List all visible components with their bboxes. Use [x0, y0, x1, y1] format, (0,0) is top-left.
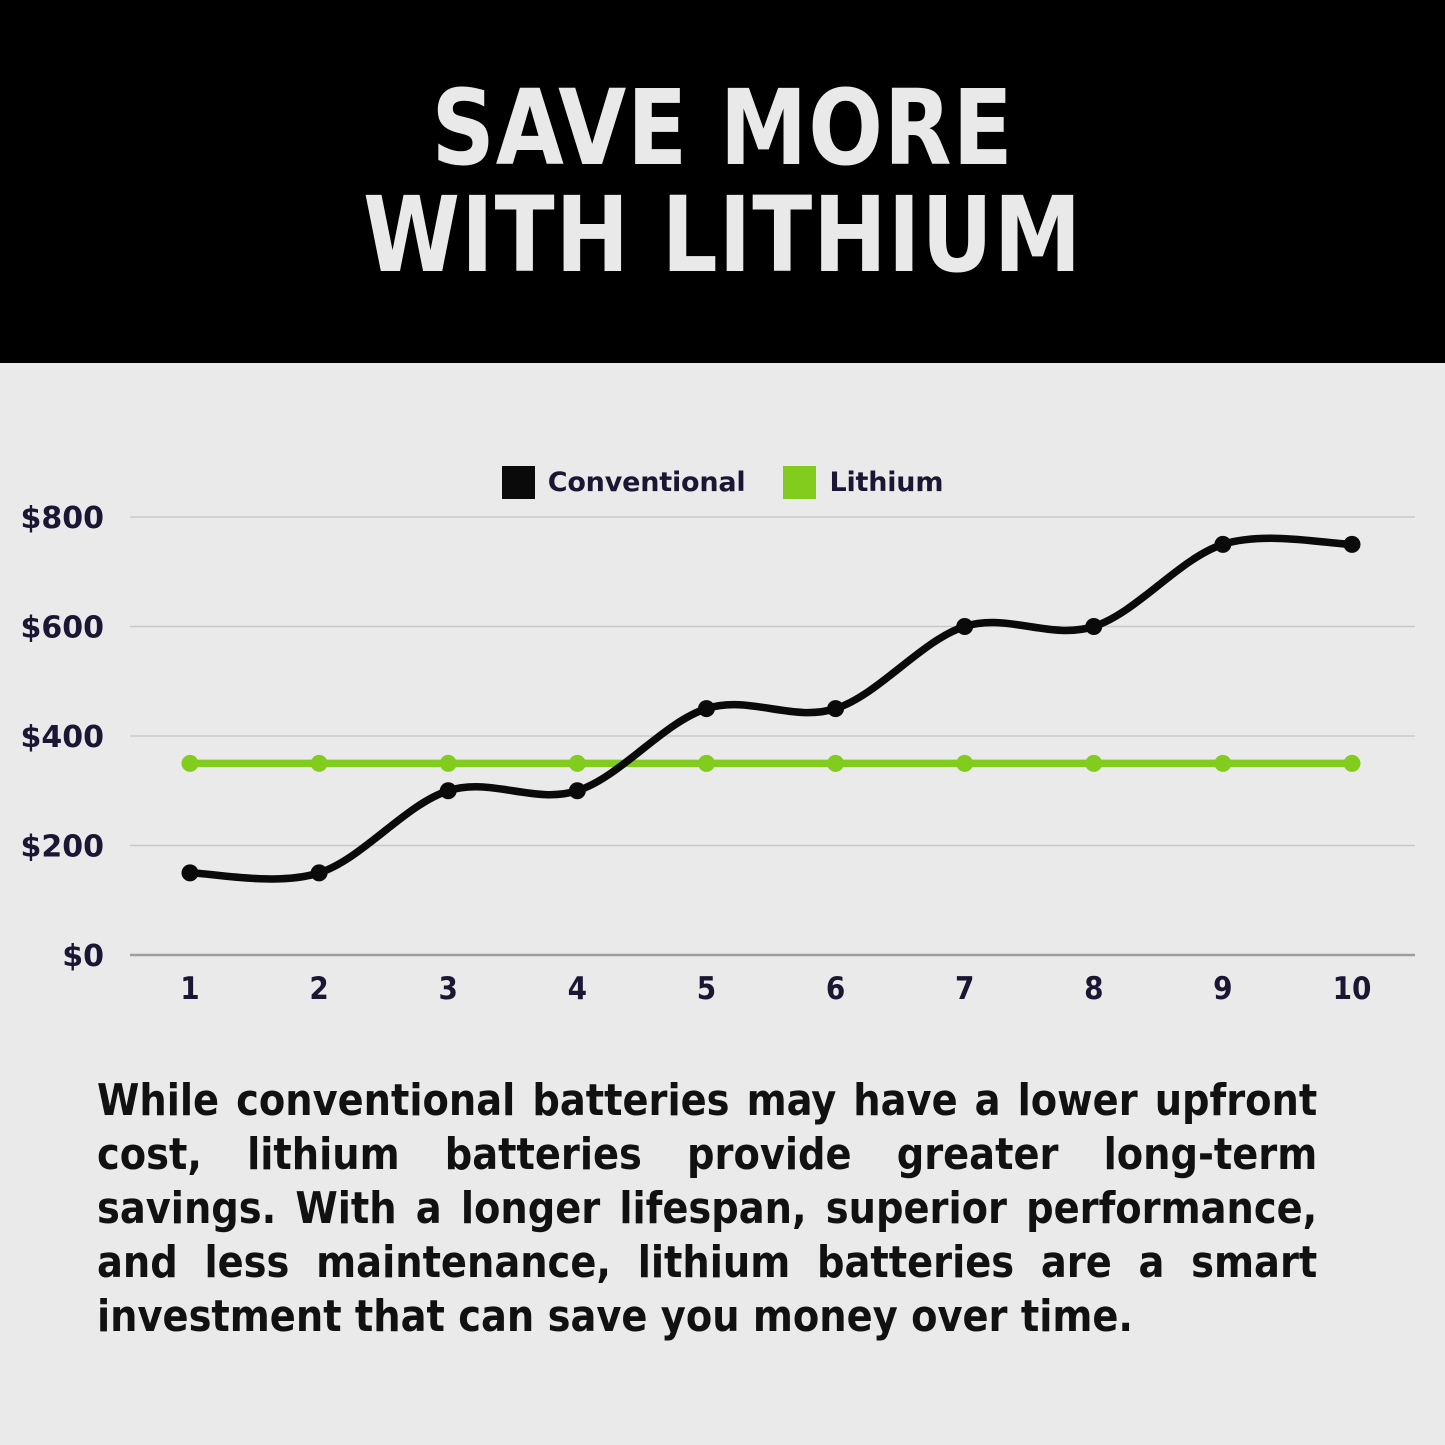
data-point-conventional	[569, 782, 586, 799]
body-paragraph: While conventional batteries may have a …	[97, 1074, 1317, 1344]
x-tick-label: 9	[1213, 971, 1232, 1007]
header-band: SAVE MORE WITH LITHIUM	[0, 0, 1445, 363]
y-tick-label: $600	[21, 611, 105, 646]
x-tick-label: 2	[309, 971, 328, 1007]
data-point-conventional	[182, 864, 199, 881]
x-tick-label: 1	[180, 971, 199, 1007]
grid-layer	[130, 517, 1415, 955]
data-point-lithium	[182, 755, 199, 772]
x-tick-label: 4	[568, 971, 587, 1007]
x-tick-label: 8	[1084, 971, 1103, 1007]
data-point-conventional	[1214, 536, 1231, 553]
y-tick-label: $0	[62, 939, 104, 974]
data-point-conventional	[827, 700, 844, 717]
data-point-conventional	[311, 864, 328, 881]
data-point-lithium	[1085, 755, 1102, 772]
x-axis-labels: 12345678910	[180, 971, 1371, 1007]
data-point-lithium	[569, 755, 586, 772]
page-title: SAVE MORE WITH LITHIUM	[363, 75, 1082, 287]
data-point-conventional	[1344, 536, 1361, 553]
y-tick-label: $400	[21, 720, 105, 755]
data-point-conventional	[956, 618, 973, 635]
series-layer	[182, 536, 1361, 882]
data-point-lithium	[827, 755, 844, 772]
data-point-lithium	[1344, 755, 1361, 772]
x-tick-label: 3	[439, 971, 458, 1007]
data-point-conventional	[698, 700, 715, 717]
x-tick-label: 6	[826, 971, 845, 1007]
y-tick-label: $200	[21, 830, 105, 865]
x-tick-label: 5	[697, 971, 716, 1007]
chart-container: Conventional Lithium $0$200$400$600$800 …	[0, 363, 1445, 1043]
data-point-lithium	[1214, 755, 1231, 772]
data-point-lithium	[311, 755, 328, 772]
series-line-conventional	[190, 538, 1352, 879]
data-point-lithium	[440, 755, 457, 772]
line-chart-plot: $0$200$400$600$800 12345678910	[0, 363, 1445, 1043]
data-point-lithium	[956, 755, 973, 772]
x-tick-label: 10	[1333, 971, 1372, 1007]
data-point-lithium	[698, 755, 715, 772]
data-point-conventional	[1085, 618, 1102, 635]
x-tick-label: 7	[955, 971, 974, 1007]
poster-root: SAVE MORE WITH LITHIUM Conventional Lith…	[0, 0, 1445, 1445]
y-tick-label: $800	[21, 501, 105, 536]
y-axis-labels: $0$200$400$600$800	[21, 501, 105, 974]
data-point-conventional	[440, 782, 457, 799]
